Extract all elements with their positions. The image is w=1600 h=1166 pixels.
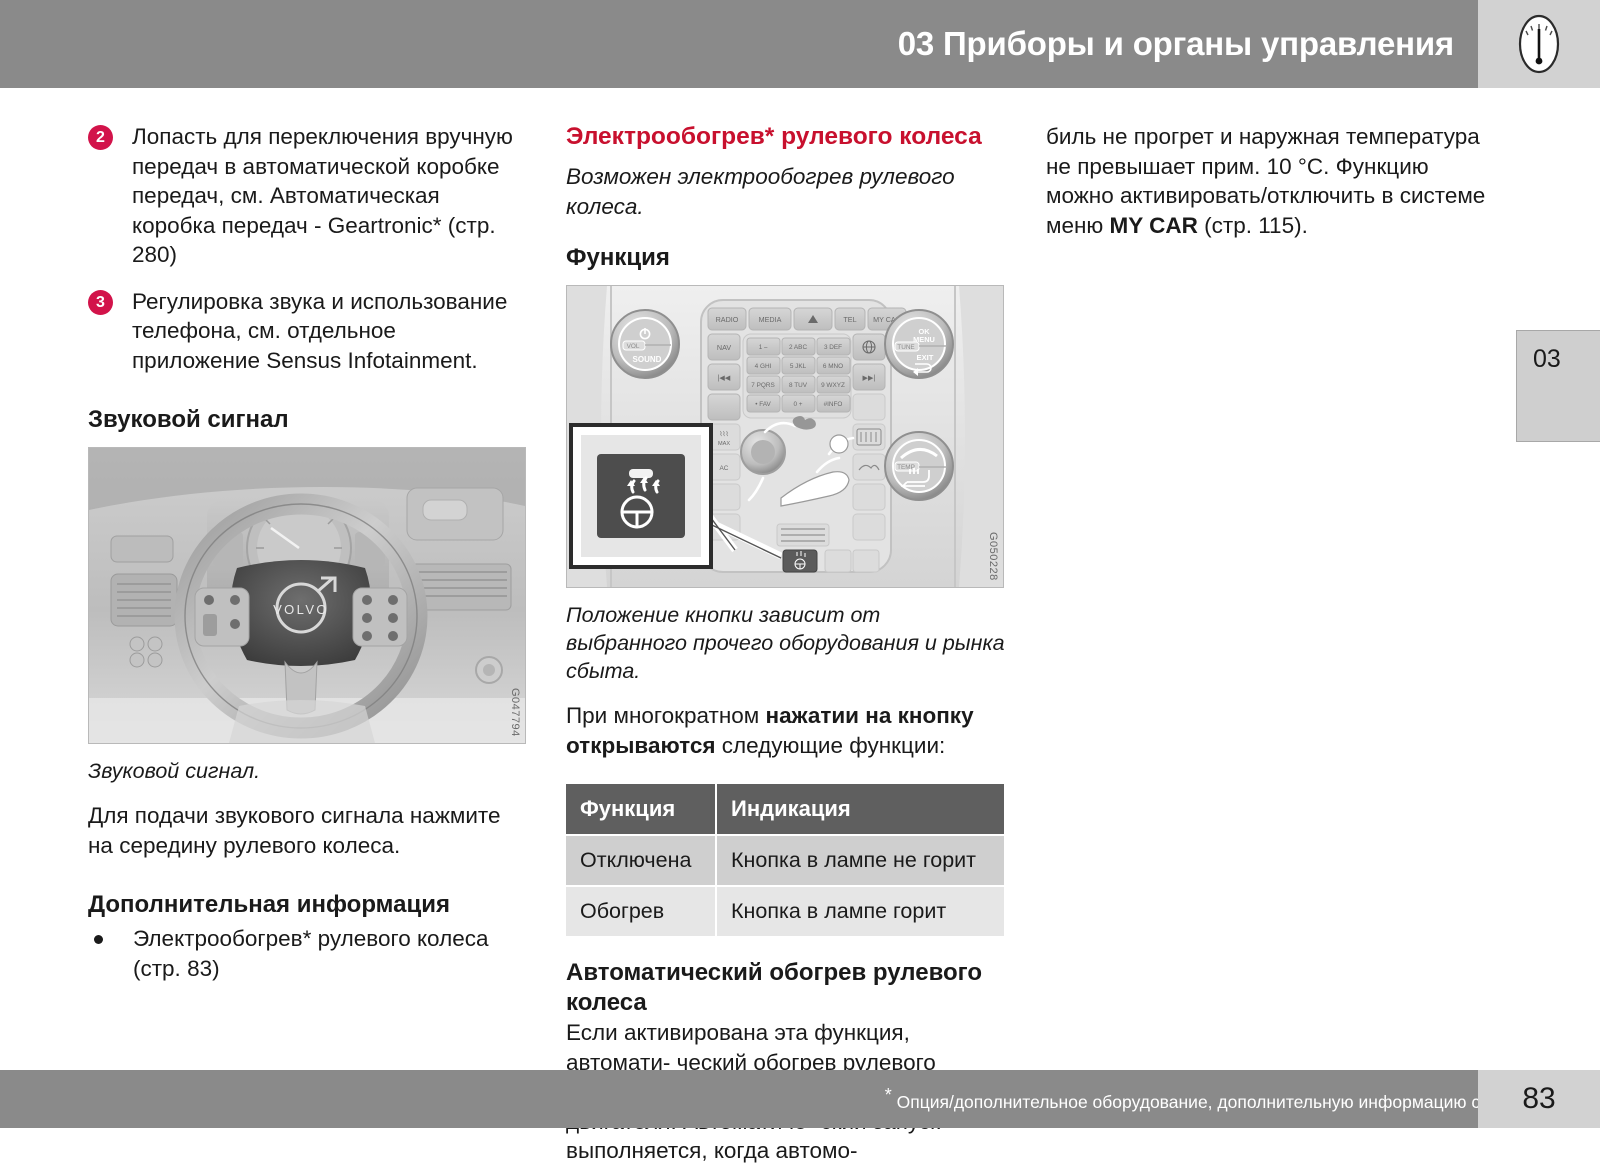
continuation-bold-1: MY CAR [1110,213,1198,238]
press-part-1: При многократном [566,703,765,728]
heading-auto-heating: Автоматический обогрев рулевого колеса [566,958,1006,1018]
table-cell-function: Обогрев [566,886,716,936]
page-footer: * Опция/дополнительное оборудование, доп… [0,1070,1600,1128]
paragraph-horn: Для подачи звукового сигнала нажмите на … [88,801,528,860]
list-item-text: Лопасть для переключения вручную передач… [132,124,513,267]
svg-text:|◀◀: |◀◀ [718,373,731,382]
page-number: 83 [1522,1082,1555,1116]
heading-steering-wheel-heating: Электрообогрев* рулевого колеса [566,122,1006,152]
svg-text:6 MNO: 6 MNO [823,363,843,370]
list-item-text: Регулировка звука и использование телефо… [132,289,507,373]
heading-more-info: Дополнительная информация [88,890,528,920]
figure-code: G047794 [509,688,521,737]
column-left: 2 Лопасть для переключения вручную перед… [88,122,528,983]
svg-text:• FAV: • FAV [755,401,771,408]
svg-text:7 PQRS: 7 PQRS [751,382,774,389]
svg-text:3 DEF: 3 DEF [824,344,842,351]
figure-caption-console: Положение кнопки зависит от выбранного п… [566,601,1006,685]
more-info-bullet-list: Электрообогрев* рулевого колеса (стр. 83… [88,924,528,983]
table-header-row: Функция Индикация [566,784,1004,835]
heading-function: Функция [566,243,1006,273]
numbered-reference-list: 2 Лопасть для переключения вручную перед… [88,122,528,375]
press-part-2: следующие функции: [716,733,946,758]
figure-steering-wheel: VOLVO G047794 [88,447,526,744]
svg-text:SOUND: SOUND [633,355,662,364]
svg-text:▶▶|: ▶▶| [863,373,876,382]
svg-text:2 ABC: 2 ABC [789,344,808,351]
svg-text:1 ⎯: 1 ⎯ [759,344,768,351]
footer-asterisk: * [885,1085,892,1105]
function-indication-table: Функция Индикация Отключена Кнопка в лам… [566,784,1004,936]
svg-text:VOLVO: VOLVO [273,602,329,617]
bullet-dot-icon [94,935,103,944]
item-number-badge: 3 [88,290,113,315]
bullet-item-text: Электрообогрев* рулевого колеса (стр. 83… [133,926,488,981]
table-cell-indication: Кнопка в лампе горит [716,886,1004,936]
svg-text:MAX: MAX [718,441,730,447]
svg-text:TEMP: TEMP [897,464,915,471]
svg-text:4 GHI: 4 GHI [755,363,772,370]
list-item: 2 Лопасть для переключения вручную перед… [88,122,528,270]
page-title: 03 Приборы и органы управления [898,25,1454,63]
footer-page-box: 83 [1478,1070,1600,1128]
list-item: 3 Регулировка звука и использование теле… [88,287,528,376]
paragraph-intro: Возможен электрообогрев рулевого колеса. [566,162,1006,221]
svg-text:MEDIA: MEDIA [759,315,782,324]
svg-text:5 JKL: 5 JKL [790,363,807,370]
svg-text:VOL: VOL [627,343,640,350]
svg-text:8 TUV: 8 TUV [789,382,808,389]
svg-text:TUNE: TUNE [897,344,914,351]
header-icon-box [1478,0,1600,88]
heading-horn: Звуковой сигнал [88,405,528,435]
svg-text:0 +: 0 + [793,401,802,408]
svg-text:TEL: TEL [843,315,856,324]
item-number-badge: 2 [88,125,113,150]
paragraph-press-button: При многократном нажатии на кнопку откры… [566,701,1006,760]
chapter-side-tab: 03 [1516,330,1600,442]
svg-text:9 WXYZ: 9 WXYZ [821,382,845,389]
list-item: Электрообогрев* рулевого колеса (стр. 83… [88,924,528,983]
gauge-icon [1516,13,1562,75]
table-cell-indication: Кнопка в лампе не горит [716,835,1004,886]
svg-text:NAV: NAV [717,343,731,352]
svg-text:AC: AC [720,465,729,472]
column-middle: Электрообогрев* рулевого колеса Возможен… [566,122,1006,1166]
paragraph-continuation: биль не прогрет и наружная температура н… [1046,122,1486,240]
figure-center-console: RADIO MEDIA TEL MY CAR NAV |◀◀ ⌇⌇⌇ MAX [566,285,1004,588]
table-row: Отключена Кнопка в лампе не горит [566,835,1004,886]
svg-text:#INFO: #INFO [824,401,843,408]
column-right: биль не прогрет и наружная температура н… [1046,122,1486,240]
table-header-function: Функция [566,784,716,835]
figure-code: G050228 [987,532,999,581]
page-header: 03 Приборы и органы управления [0,0,1600,88]
chapter-side-tab-label: 03 [1533,345,1561,374]
svg-text:⌇⌇⌇: ⌇⌇⌇ [719,431,728,438]
figure-caption-horn: Звуковой сигнал. [88,757,528,785]
table-header-indication: Индикация [716,784,1004,835]
svg-text:RADIO: RADIO [716,315,739,324]
svg-text:EXIT: EXIT [917,353,934,362]
continuation-part-2: (стр. 115). [1198,213,1308,238]
table-cell-function: Отключена [566,835,716,886]
table-row: Обогрев Кнопка в лампе горит [566,886,1004,936]
